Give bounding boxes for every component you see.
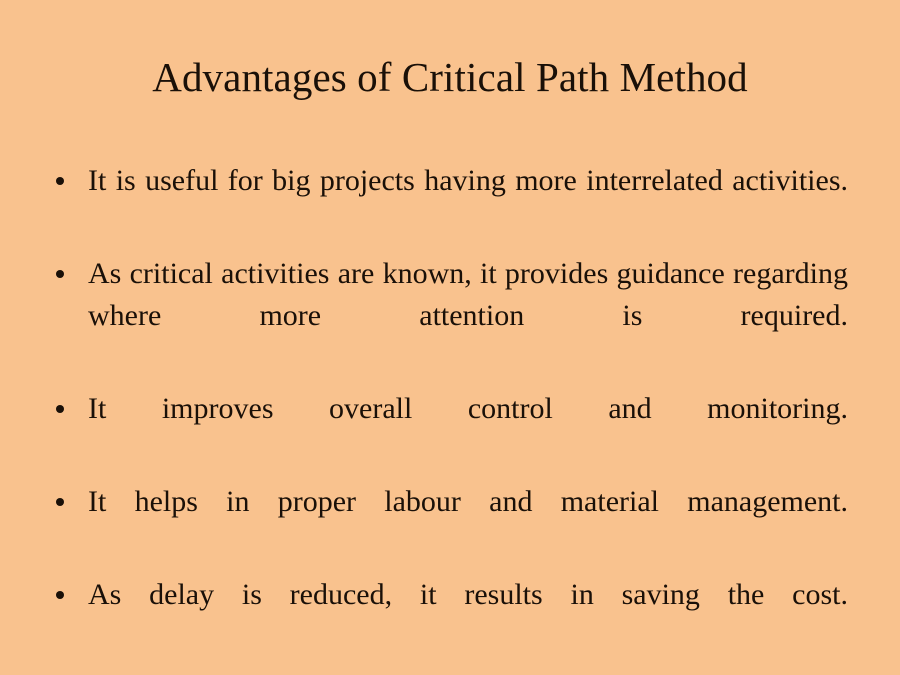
bullet-dot-icon bbox=[56, 498, 64, 506]
bullet-list: It is useful for big projects having mor… bbox=[48, 160, 848, 658]
list-item-text: As delay is reduced, it results in savin… bbox=[88, 578, 848, 611]
list-item-text: It helps in proper labour and material m… bbox=[88, 485, 848, 518]
bullet-dot-icon bbox=[56, 177, 64, 185]
list-item: It helps in proper labour and material m… bbox=[48, 481, 848, 565]
slide-title: Advantages of Critical Path Method bbox=[0, 52, 900, 102]
list-item-text: It is useful for big projects having mor… bbox=[88, 164, 848, 197]
bullet-dot-icon bbox=[56, 270, 64, 278]
list-item: It improves overall control and monitori… bbox=[48, 388, 848, 472]
list-item: As delay is reduced, it results in savin… bbox=[48, 574, 848, 658]
presentation-slide: Advantages of Critical Path Method It is… bbox=[0, 0, 900, 675]
list-item: It is useful for big projects having mor… bbox=[48, 160, 848, 244]
bullet-dot-icon bbox=[56, 405, 64, 413]
list-item: As critical activities are known, it pro… bbox=[48, 253, 848, 379]
bullet-dot-icon bbox=[56, 591, 64, 599]
list-item-text: As critical activities are known, it pro… bbox=[88, 257, 848, 332]
list-item-text: It improves overall control and monitori… bbox=[88, 392, 848, 425]
